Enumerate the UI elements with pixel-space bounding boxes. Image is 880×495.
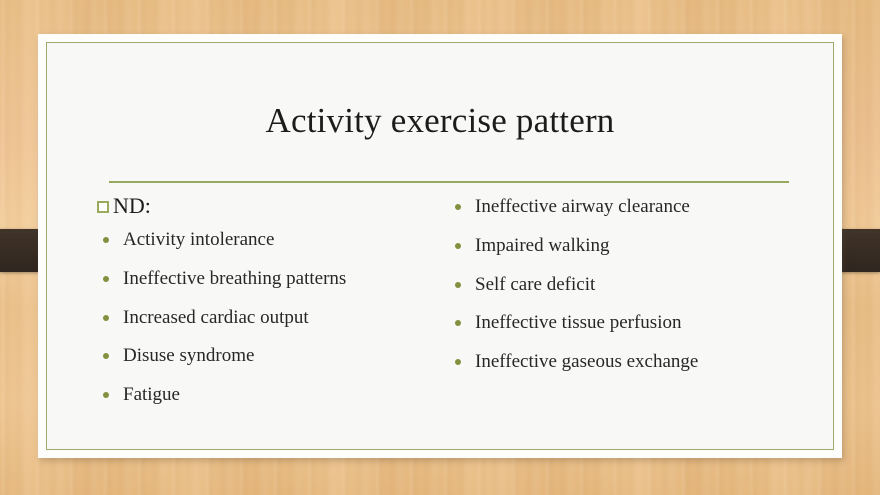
list-item-label: Self care deficit bbox=[475, 273, 595, 297]
round-bullet-icon bbox=[103, 353, 109, 359]
round-bullet-icon bbox=[455, 243, 461, 249]
nd-heading-row: ND: bbox=[97, 195, 407, 217]
slide-body-columns: ND: Activity intolerance Ineffective bre… bbox=[47, 195, 833, 422]
list-item-label: Impaired walking bbox=[475, 234, 610, 258]
list-item: Activity intolerance bbox=[103, 228, 407, 252]
title-divider-line bbox=[109, 181, 789, 183]
list-item-label: Ineffective airway clearance bbox=[475, 195, 690, 219]
round-bullet-icon bbox=[455, 204, 461, 210]
nd-heading-label: ND: bbox=[113, 195, 151, 217]
round-bullet-icon bbox=[103, 237, 109, 243]
slide-inner-border: Activity exercise pattern ND: Activity i… bbox=[46, 42, 834, 450]
list-item: Self care deficit bbox=[455, 273, 811, 297]
round-bullet-icon bbox=[455, 320, 461, 326]
list-item-label: Fatigue bbox=[123, 383, 180, 407]
round-bullet-icon bbox=[455, 359, 461, 365]
list-item: Impaired walking bbox=[455, 234, 811, 258]
slide-stage: Activity exercise pattern ND: Activity i… bbox=[0, 0, 880, 495]
slide-title: Activity exercise pattern bbox=[47, 101, 833, 141]
list-item: Disuse syndrome bbox=[103, 344, 407, 368]
list-item-label: Ineffective gaseous exchange bbox=[475, 350, 698, 374]
list-item-label: Activity intolerance bbox=[123, 228, 274, 252]
list-item-label: Ineffective tissue perfusion bbox=[475, 311, 681, 335]
list-item: Fatigue bbox=[103, 383, 407, 407]
list-item-label: Increased cardiac output bbox=[123, 306, 309, 330]
right-column: Ineffective airway clearance Impaired wa… bbox=[407, 195, 811, 422]
list-item: Ineffective airway clearance bbox=[455, 195, 811, 219]
list-item: Ineffective tissue perfusion bbox=[455, 311, 811, 335]
round-bullet-icon bbox=[103, 315, 109, 321]
round-bullet-icon bbox=[455, 282, 461, 288]
round-bullet-icon bbox=[103, 392, 109, 398]
list-item-label: Ineffective breathing patterns bbox=[123, 267, 346, 291]
presentation-slide: Activity exercise pattern ND: Activity i… bbox=[38, 34, 842, 458]
hollow-square-bullet-icon bbox=[97, 201, 109, 213]
list-item-label: Disuse syndrome bbox=[123, 344, 254, 368]
round-bullet-icon bbox=[103, 276, 109, 282]
list-item: Ineffective breathing patterns bbox=[103, 267, 407, 291]
list-item: Increased cardiac output bbox=[103, 306, 407, 330]
list-item: Ineffective gaseous exchange bbox=[455, 350, 811, 374]
left-column: ND: Activity intolerance Ineffective bre… bbox=[47, 195, 407, 422]
